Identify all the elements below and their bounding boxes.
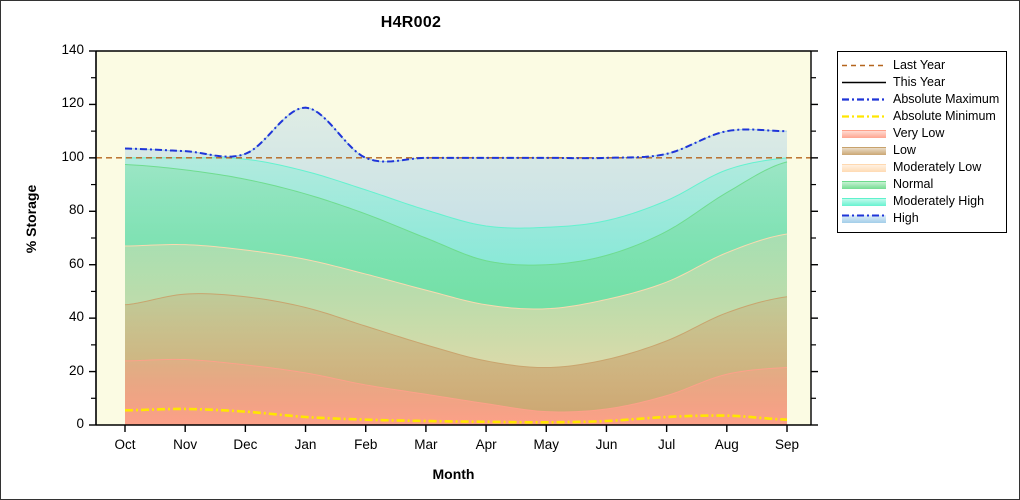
legend-item-normal[interactable]: Normal — [842, 176, 1002, 193]
y-tick-label: 100 — [44, 149, 84, 164]
y-axis-label: % Storage — [23, 169, 39, 269]
y-tick-label: 60 — [44, 256, 84, 271]
y-tick-label: 20 — [44, 363, 84, 378]
legend-label: Absolute Minimum — [893, 110, 996, 123]
legend-item-high[interactable]: High — [842, 210, 1002, 227]
x-tick-label-jan: Jan — [276, 437, 336, 452]
y-tick-label: 140 — [44, 42, 84, 57]
x-tick-label-jul: Jul — [637, 437, 697, 452]
x-tick-label-sep: Sep — [757, 437, 817, 452]
legend-swatch-icon — [842, 195, 886, 208]
x-tick-label-oct: Oct — [95, 437, 155, 452]
legend-label: Low — [893, 144, 916, 157]
y-tick-label: 0 — [44, 416, 84, 431]
legend-swatch-icon — [842, 178, 886, 191]
x-tick-label-may: May — [516, 437, 576, 452]
chart-window: H4R002 % Storage Month 02040608010012014… — [0, 0, 1020, 500]
y-tick-label: 80 — [44, 202, 84, 217]
legend-swatch-icon — [842, 110, 886, 123]
legend-swatch-icon — [842, 93, 886, 106]
legend-item-very-low[interactable]: Very Low — [842, 125, 1002, 142]
legend-swatch-icon — [842, 161, 886, 174]
legend-label: Absolute Maximum — [893, 93, 999, 106]
legend-swatch-icon — [842, 59, 886, 72]
x-tick-label-nov: Nov — [155, 437, 215, 452]
x-tick-label-aug: Aug — [697, 437, 757, 452]
legend-item-this-year[interactable]: This Year — [842, 74, 1002, 91]
legend-item-last-year[interactable]: Last Year — [842, 57, 1002, 74]
legend-label: Moderately High — [893, 195, 984, 208]
legend-label: Very Low — [893, 127, 944, 140]
legend-swatch-icon — [842, 76, 886, 89]
legend-label: High — [893, 212, 919, 225]
y-tick-label: 120 — [44, 95, 84, 110]
chart-legend: Last YearThis YearAbsolute MaximumAbsolu… — [837, 51, 1007, 233]
y-tick-label: 40 — [44, 309, 84, 324]
legend-label: Moderately Low — [893, 161, 981, 174]
legend-item-absolute-minimum[interactable]: Absolute Minimum — [842, 108, 1002, 125]
x-axis-label: Month — [96, 466, 811, 482]
legend-item-moderately-low[interactable]: Moderately Low — [842, 159, 1002, 176]
legend-label: Last Year — [893, 59, 945, 72]
legend-swatch-icon — [842, 144, 886, 157]
x-tick-label-mar: Mar — [396, 437, 456, 452]
x-tick-label-apr: Apr — [456, 437, 516, 452]
legend-item-absolute-maximum[interactable]: Absolute Maximum — [842, 91, 1002, 108]
x-tick-label-dec: Dec — [215, 437, 275, 452]
legend-item-low[interactable]: Low — [842, 142, 1002, 159]
x-tick-label-jun: Jun — [576, 437, 636, 452]
legend-label: This Year — [893, 76, 945, 89]
x-tick-label-feb: Feb — [336, 437, 396, 452]
legend-swatch-icon — [842, 127, 886, 140]
legend-swatch-icon — [842, 212, 886, 225]
legend-item-moderately-high[interactable]: Moderately High — [842, 193, 1002, 210]
legend-label: Normal — [893, 178, 933, 191]
